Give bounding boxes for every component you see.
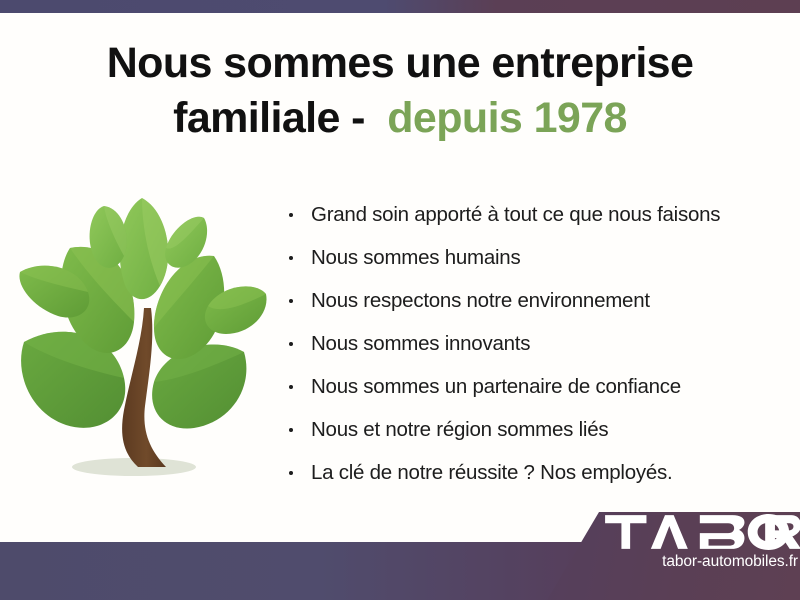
- list-item: Nous sommes un partenaire de confiance: [286, 365, 766, 408]
- brand-logo: tabor-automobiles.fr: [596, 512, 800, 588]
- tree-icon: [18, 182, 274, 482]
- list-item-label: Nous et notre région sommes liés: [311, 418, 608, 441]
- list-item-label: Nous respectons notre environnement: [311, 289, 650, 312]
- list-item-label: La clé de notre réussite ? Nos employés.: [311, 461, 672, 484]
- slide-canvas: Nous sommes une entreprise familiale - d…: [0, 0, 800, 600]
- bullet-dot-icon: [289, 428, 293, 432]
- top-accent-bar: [0, 0, 800, 13]
- tree-leaf-top-center: [120, 198, 169, 299]
- list-item: Nous sommes innovants: [286, 322, 766, 365]
- list-item: Nous sommes humains: [286, 236, 766, 279]
- list-item-label: Nous sommes humains: [311, 246, 520, 269]
- headline-line-1: Nous sommes une entreprise: [107, 39, 694, 87]
- bullet-dot-icon: [289, 213, 293, 217]
- list-item-label: Grand soin apporté à tout ce que nous fa…: [311, 203, 720, 226]
- headline-line-2-plain: familiale -: [173, 94, 376, 142]
- tree-leaf-top-left: [90, 206, 127, 268]
- headline-line-2-accent: depuis 1978: [387, 94, 627, 142]
- value-proposition-list: Grand soin apporté à tout ce que nous fa…: [286, 193, 766, 494]
- bullet-dot-icon: [289, 299, 293, 303]
- list-item: Nous et notre région sommes liés: [286, 408, 766, 451]
- bullet-dot-icon: [289, 342, 293, 346]
- page-title: Nous sommes une entreprise familiale - d…: [40, 36, 760, 145]
- list-item: Grand soin apporté à tout ce que nous fa…: [286, 193, 766, 236]
- list-item-label: Nous sommes innovants: [311, 332, 530, 355]
- bullet-dot-icon: [289, 385, 293, 389]
- bullet-dot-icon: [289, 471, 293, 475]
- list-item: La clé de notre réussite ? Nos employés.: [286, 451, 766, 494]
- tree-leaf-lower-right: [152, 344, 246, 428]
- tabor-wordmark-icon: [604, 514, 800, 550]
- list-item-label: Nous sommes un partenaire de confiance: [311, 375, 681, 398]
- bullet-dot-icon: [289, 256, 293, 260]
- logo-website-url: tabor-automobiles.fr: [662, 553, 798, 571]
- list-item: Nous respectons notre environnement: [286, 279, 766, 322]
